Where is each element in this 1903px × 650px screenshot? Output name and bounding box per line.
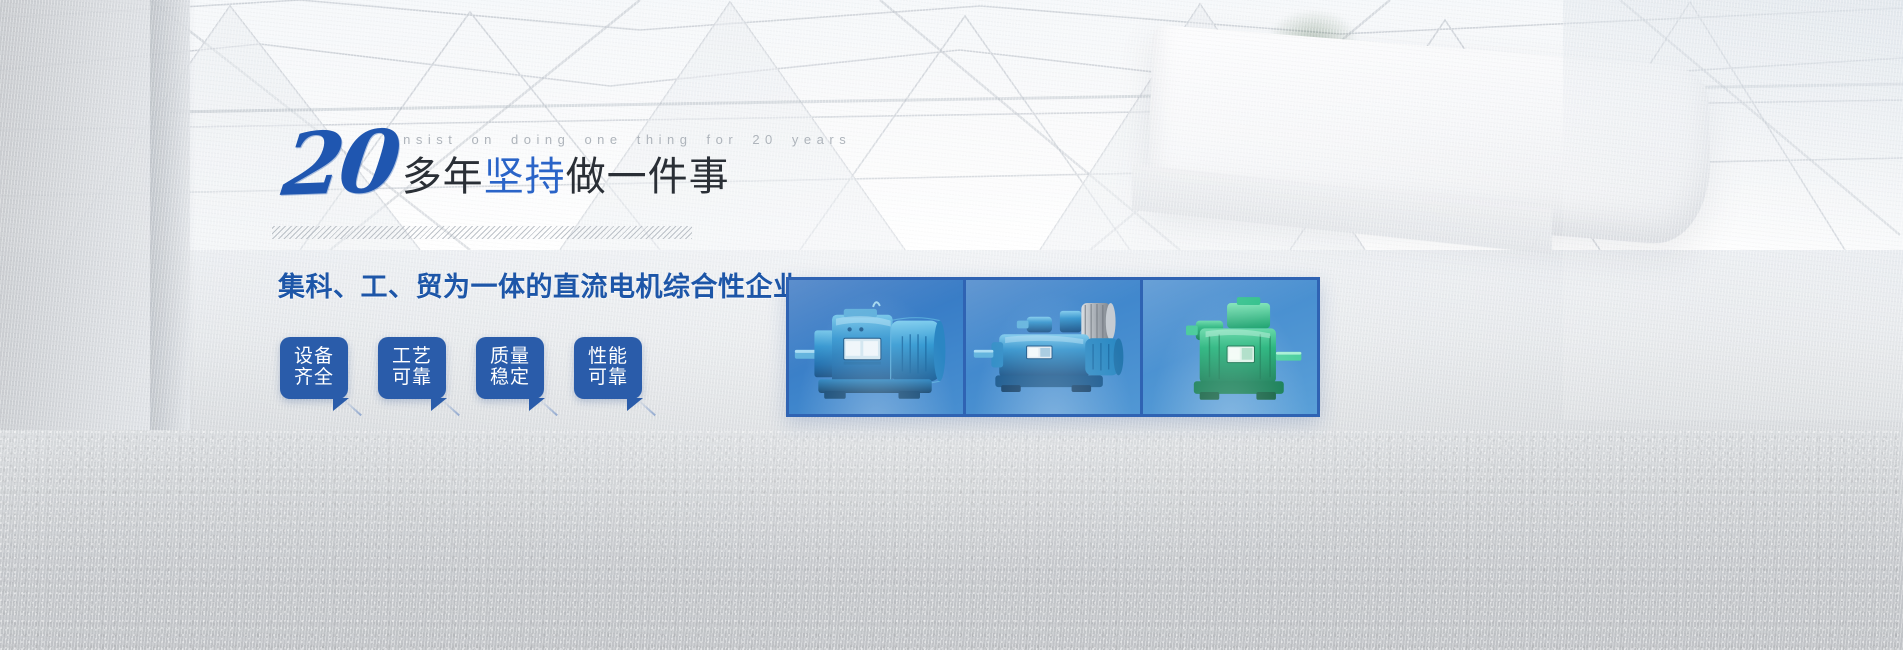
headline-chinese-part2: 坚持 [484,155,566,199]
headline: 20 多年坚持做一件事 [284,128,730,200]
cell-sheen [1143,280,1317,414]
subtitle: 集科、工、贸为一体的直流电机综合性企业 [278,265,801,304]
product-cell-dc-motor-blower[interactable] [963,280,1140,414]
hatched-divider [272,226,692,239]
feature-badge-quality[interactable]: 质量 稳定 [476,337,544,399]
badge-line1: 性能 [588,347,628,368]
feature-badge-equipment[interactable]: 设备 齐全 [280,337,348,399]
product-cell-dc-motor-green[interactable] [1140,280,1317,414]
headline-chinese-part1: 多年 [402,155,484,199]
feature-badge-process[interactable]: 工艺 可靠 [378,337,446,399]
product-cell-dc-motor-blue[interactable] [789,280,963,414]
feature-badge-performance[interactable]: 性能 可靠 [574,337,642,399]
cell-sheen [966,280,1140,414]
badge-line2: 稳定 [490,368,530,389]
product-showcase-panel [786,277,1320,417]
feature-badge-list: 设备 齐全 工艺 可靠 质量 稳定 性能 可靠 [280,337,642,399]
hero-banner: Insist on doing one thing for 20 years 2… [0,0,1903,650]
badge-line2: 齐全 [294,368,334,389]
badge-line2: 可靠 [392,368,432,389]
badge-line2: 可靠 [588,368,628,389]
headline-chinese-part3: 做一件事 [566,155,730,199]
headline-chinese: 多年坚持做一件事 [402,157,730,200]
cell-sheen [789,280,963,414]
banner-content: Insist on doing one thing for 20 years 2… [0,0,1903,650]
badge-line1: 工艺 [392,347,432,368]
headline-number: 20 [279,126,400,202]
badge-line1: 设备 [294,347,334,368]
badge-line1: 质量 [490,347,530,368]
